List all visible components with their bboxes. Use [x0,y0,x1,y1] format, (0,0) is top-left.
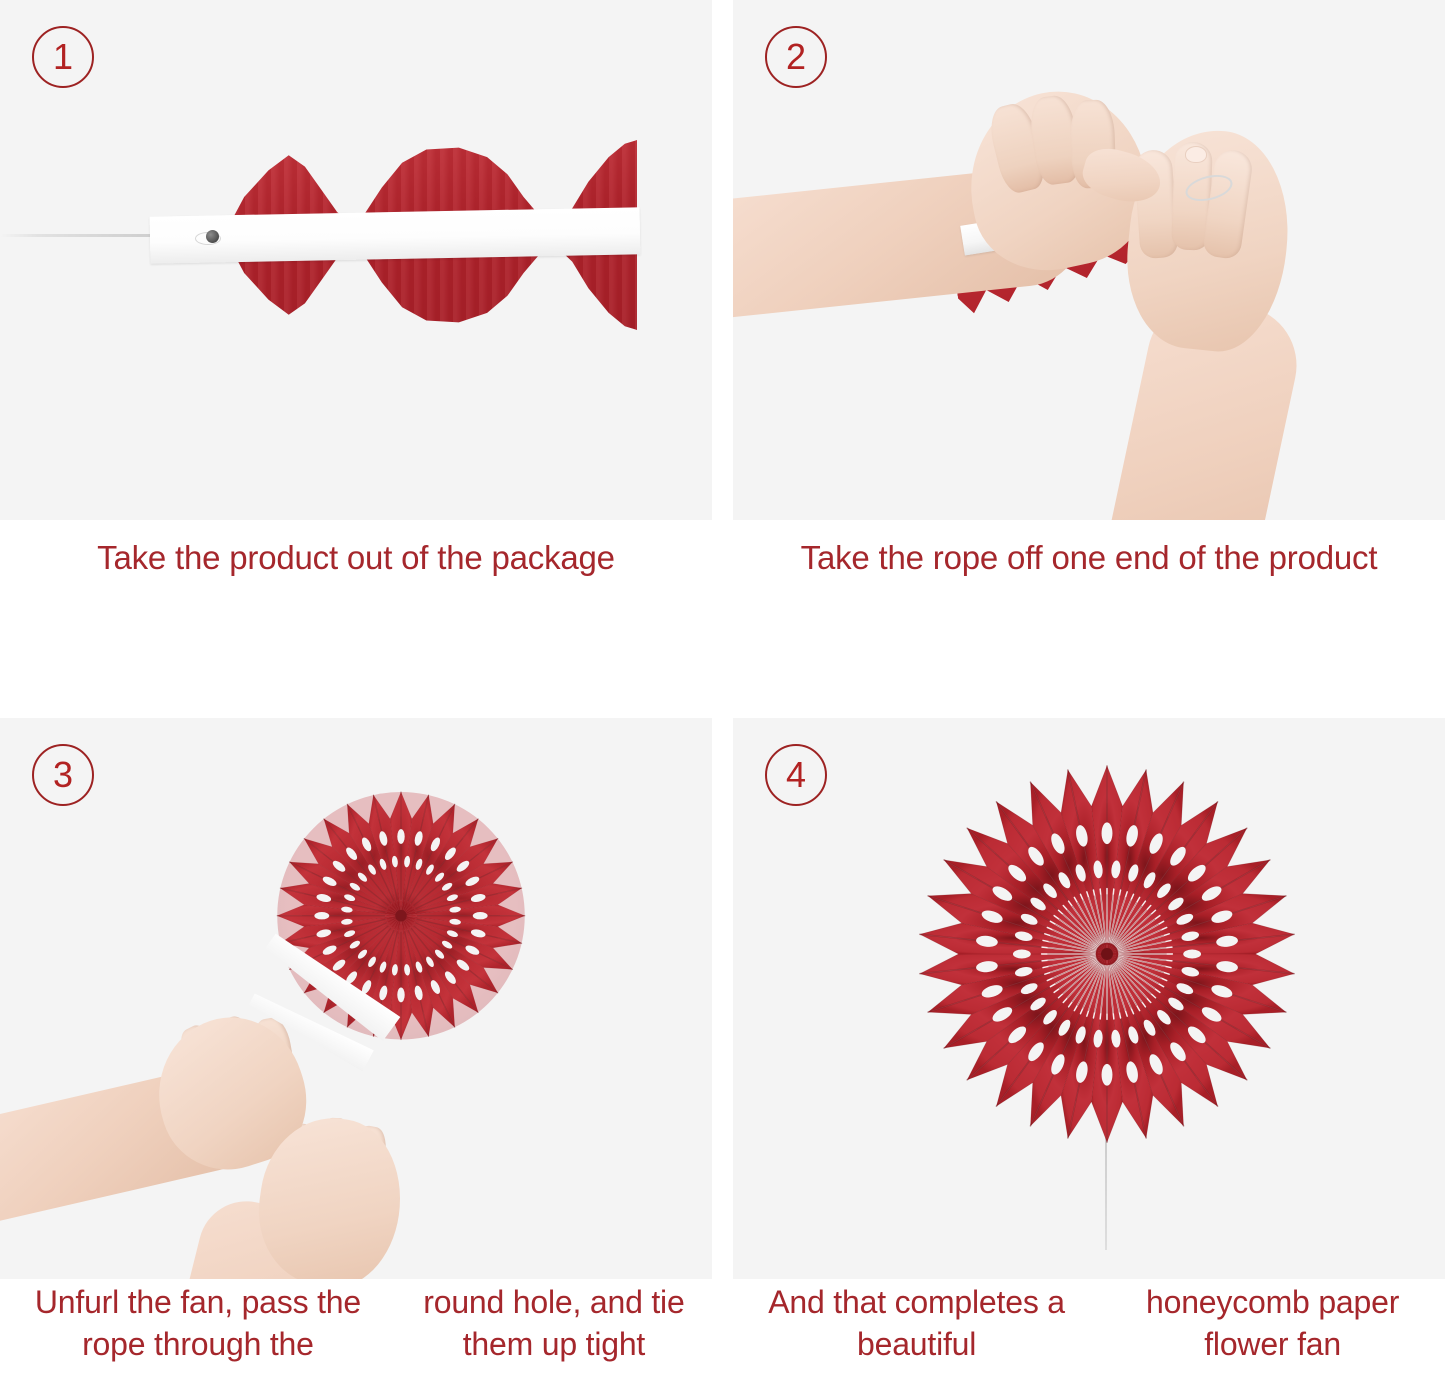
step-2-caption-text: Take the rope off one end of the product [801,536,1378,580]
step-4-photo: 4 [733,718,1445,1279]
step-3-caption: Unfurl the fan, pass the rope through th… [0,1279,712,1380]
step-1-caption-text: Take the product out of the package [97,536,615,580]
fingernail [1185,146,1207,163]
step-1-badge: 1 [32,26,94,88]
folded-fan-package [150,140,640,330]
step-2-photo: 2 [733,0,1445,520]
step-2-caption: Take the rope off one end of the product [733,520,1445,718]
eyelet-grommet [206,230,219,243]
step-3-badge: 3 [32,744,94,806]
step-1-caption: Take the product out of the package [0,520,712,718]
white-paper-band [150,207,641,263]
step-4-caption-line-1: And that completes a beautiful [733,1281,1100,1365]
step-4-badge: 4 [765,744,827,806]
step-4-caption: And that completes a beautiful honeycomb… [733,1279,1445,1380]
step-3-caption-line-2: round hole, and tie them up tight [396,1281,712,1365]
finished-paper-fan [909,756,1305,1152]
step-3-photo: 3 [0,718,712,1279]
instruction-infographic: 1 2 [0,0,1445,1380]
step-3-caption-line-1: Unfurl the fan, pass the rope through th… [0,1281,396,1365]
step-2-badge: 2 [765,26,827,88]
step-1-photo: 1 [0,0,712,520]
step-4-caption-line-2: honeycomb paper flower fan [1100,1281,1445,1365]
